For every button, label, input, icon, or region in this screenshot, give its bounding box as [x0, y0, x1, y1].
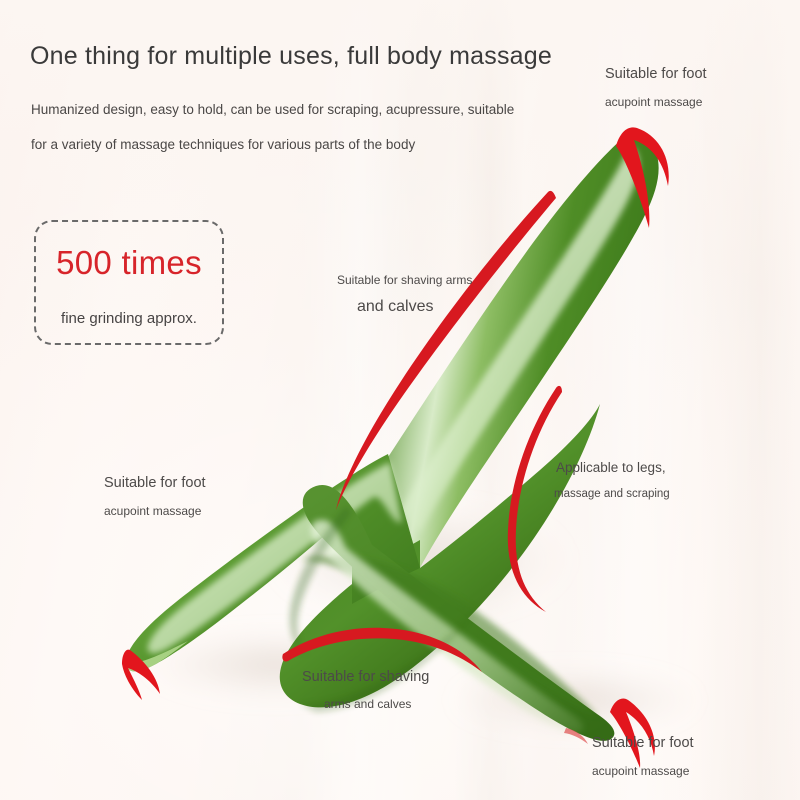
- callout-foot-acupoint-left: Suitable for foot acupoint massage: [104, 475, 206, 518]
- callout-line-2: massage and scraping: [554, 488, 670, 500]
- page-title: One thing for multiple uses, full body m…: [30, 42, 552, 71]
- badge-caption: fine grinding approx.: [36, 310, 222, 327]
- callout-foot-acupoint-bottom-right: Suitable for foot acupoint massage: [592, 735, 694, 778]
- callout-line-1: Suitable for shaving arms: [337, 273, 472, 287]
- callout-line-2: arms and calves: [324, 697, 429, 711]
- callout-shaving-arms-calves: Suitable for shaving arms and calves: [337, 273, 472, 316]
- callout-line-1: Suitable for shaving: [302, 669, 429, 685]
- subtitle-line-1: Humanized design, easy to hold, can be u…: [31, 102, 514, 117]
- callout-line-1: Suitable for foot: [592, 735, 694, 751]
- callout-line-2: acupoint massage: [104, 504, 206, 518]
- badge-value: 500 times: [36, 244, 222, 282]
- callout-line-2: and calves: [357, 298, 472, 316]
- callout-line-1: Suitable for foot: [605, 66, 707, 82]
- callout-line-2: acupoint massage: [605, 95, 707, 109]
- grinding-badge: 500 times fine grinding approx.: [34, 220, 224, 345]
- callout-line-2: acupoint massage: [592, 764, 694, 778]
- callout-legs-massage-scraping: Applicable to legs, massage and scraping: [556, 460, 670, 500]
- callout-line-1: Applicable to legs,: [556, 460, 670, 475]
- subtitle-line-2: for a variety of massage techniques for …: [31, 137, 415, 152]
- callout-foot-acupoint-top-right: Suitable for foot acupoint massage: [605, 66, 707, 109]
- product-marketing-image: One thing for multiple uses, full body m…: [0, 0, 800, 800]
- callout-shaving-bottom: Suitable for shaving arms and calves: [302, 669, 429, 711]
- callout-line-1: Suitable for foot: [104, 475, 206, 491]
